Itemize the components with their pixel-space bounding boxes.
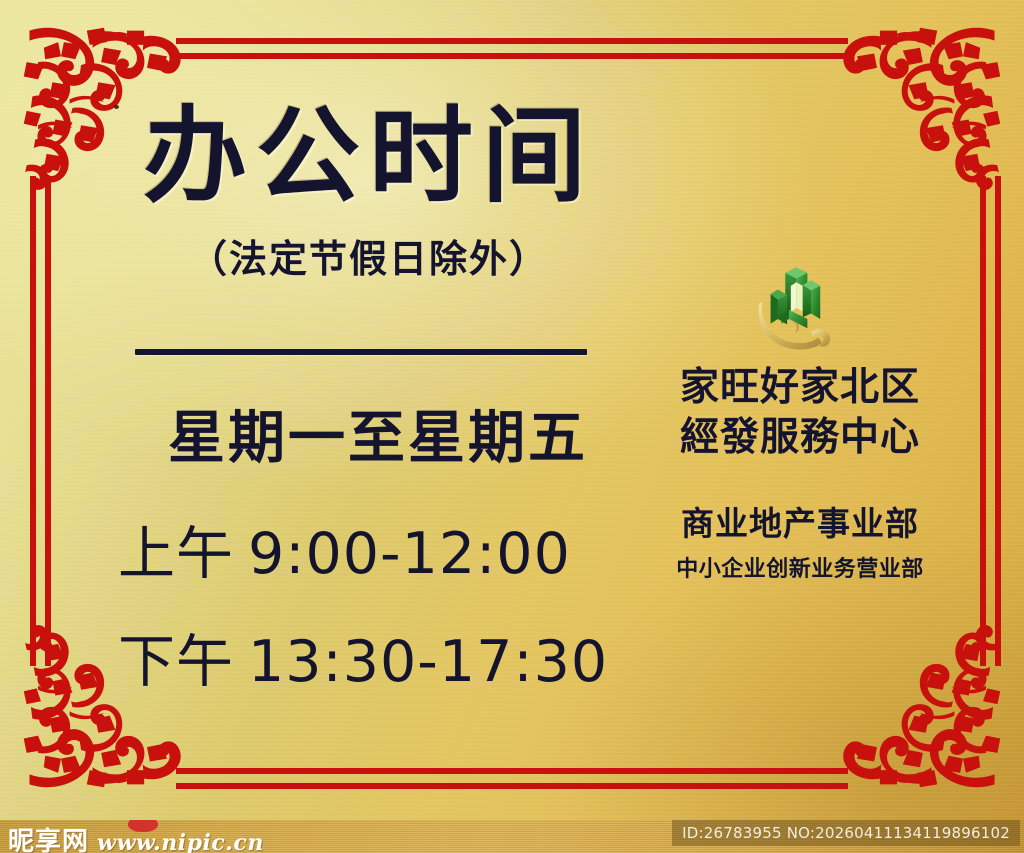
green-building-in-hand-logo-icon	[754, 262, 846, 354]
hours-period-label: 上午	[118, 521, 234, 587]
border-rule-left-inner	[45, 176, 51, 666]
hours-time-value: 13:30-17:30	[248, 629, 608, 695]
hours-time-value: 9:00-12:00	[248, 521, 571, 587]
plaque-screenshot: 办公时间 （法定节假日除外） 星期一至星期五 上午9:00-12:00 下午13…	[0, 0, 1024, 853]
border-rule-left-outer	[30, 176, 36, 666]
border-rule-top-inner	[176, 53, 848, 59]
brand-name-line-1: 家旺好家北区	[648, 364, 952, 412]
hours-row: 上午9:00-12:00	[118, 508, 678, 590]
brand-name-line-2: 經發服務中心	[648, 414, 952, 462]
page-title: 办公时间	[78, 100, 660, 212]
watermark-site-name: 昵享网	[8, 821, 89, 853]
border-rule-bottom-outer	[176, 768, 848, 774]
section-divider	[135, 349, 587, 355]
hours-period-label: 下午	[118, 629, 234, 695]
border-rule-top-outer	[176, 38, 848, 44]
department-main-label: 商业地产事业部	[648, 497, 952, 545]
border-rule-bottom-inner	[176, 783, 848, 789]
page-subtitle: （法定节假日除外）	[78, 228, 660, 283]
office-hours-block: 办公时间 （法定节假日除外）	[60, 100, 660, 283]
weekday-range-label: 星期一至星期五	[78, 392, 678, 474]
watermark-footer-bar: 昵享网 www.nipic.cn ID:26783955 NO:20260411…	[0, 820, 1024, 853]
border-rule-right-outer	[980, 176, 986, 666]
department-sub-label: 中小企业创新业务营业部	[648, 551, 952, 583]
image-id-badge: ID:26783955 NO:20260411134119896102	[672, 820, 1020, 846]
hours-row: 下午13:30-17:30	[118, 616, 678, 698]
watermark-brand[interactable]: 昵享网 www.nipic.cn	[8, 821, 264, 853]
brand-block: 家旺好家北区 經發服務中心 商业地产事业部 中小企业创新业务营业部	[648, 262, 952, 583]
watermark-site-url[interactable]: www.nipic.cn	[97, 830, 264, 853]
border-rule-right-inner	[995, 176, 1001, 666]
